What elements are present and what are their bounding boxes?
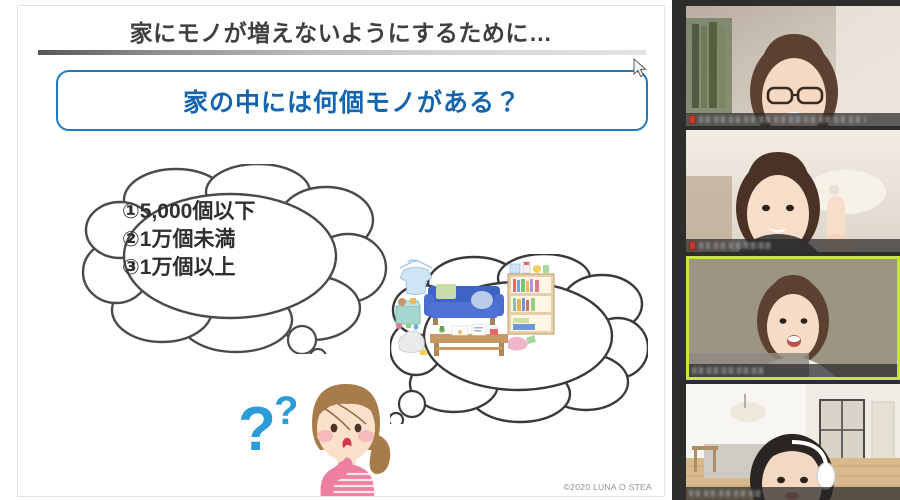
participant-name-bar-1: woman-with-glasses-bookshelf-background	[686, 113, 900, 126]
video-tile-1[interactable]: woman-with-glasses-bookshelf-background	[686, 6, 900, 126]
participant-name-bar-4: woman-with-headset-living-room-backgroun…	[686, 487, 900, 500]
bookshelf-icon	[508, 262, 554, 334]
room-thought-bubble	[390, 254, 648, 424]
presentation-slide: 家にモノが増えないようにするために… 家の中には何個モノがある？	[17, 5, 665, 497]
screen-share-meeting-window: 家にモノが増えないようにするために… 家の中には何個モノがある？	[0, 0, 900, 500]
toy-box-icon	[396, 298, 420, 330]
participant-name-2	[699, 242, 771, 249]
slide-title: 家にモノが増えないようにするために…	[18, 14, 664, 48]
participant-video-panel[interactable]: woman-with-glasses-bookshelf-background	[672, 0, 900, 500]
coffee-table-icon	[430, 324, 508, 356]
video-feed-2	[686, 130, 900, 252]
option-3: ③1万個以上	[122, 254, 255, 282]
video-tile-3[interactable]: woman-speaking-gray-wall-background	[686, 256, 900, 380]
participant-name-1	[699, 116, 866, 123]
trash-bag-icon	[399, 331, 424, 353]
title-divider	[38, 50, 646, 55]
participant-name-3	[692, 367, 764, 374]
option-1: ①5,000個以下	[122, 198, 255, 226]
mouse-pointer-icon	[632, 58, 648, 78]
video-tile-2[interactable]: woman-raising-index-finger	[686, 130, 900, 252]
video-feed-3	[689, 259, 897, 377]
blue-sofa-icon	[424, 284, 504, 325]
copyright-text: ©2020 LUNA O STEA	[564, 482, 652, 492]
mute-icon-2	[689, 241, 696, 250]
video-feed-1	[686, 6, 900, 126]
question-box: 家の中には何個モノがある？	[56, 70, 648, 131]
video-feed-4	[686, 384, 900, 500]
thinking-woman-illustration	[294, 378, 402, 497]
question-box-text: 家の中には何個モノがある？	[183, 83, 521, 119]
participant-name-bar-3: woman-speaking-gray-wall-background	[689, 364, 897, 377]
svg-text:?: ?	[238, 395, 276, 464]
hanging-shirt-icon	[400, 260, 432, 295]
thinking-woman-illustration	[294, 378, 402, 497]
mute-icon-1	[689, 115, 696, 124]
cluttered-living-room-illustration	[390, 254, 562, 362]
option-2: ②1万個未満	[122, 226, 255, 254]
shared-screen-region[interactable]: 家にモノが増えないようにするために… 家の中には何個モノがある？	[0, 0, 672, 500]
video-tile-4[interactable]: woman-with-headset-living-room-backgroun…	[686, 384, 900, 500]
participant-name-bar-2: woman-raising-index-finger	[686, 239, 900, 252]
options-list: ①5,000個以下 ②1万個未満 ③1万個以上	[122, 198, 255, 282]
options-thought-bubble: ①5,000個以下 ②1万個未満 ③1万個以上	[80, 164, 390, 354]
participant-name-4	[689, 490, 761, 497]
